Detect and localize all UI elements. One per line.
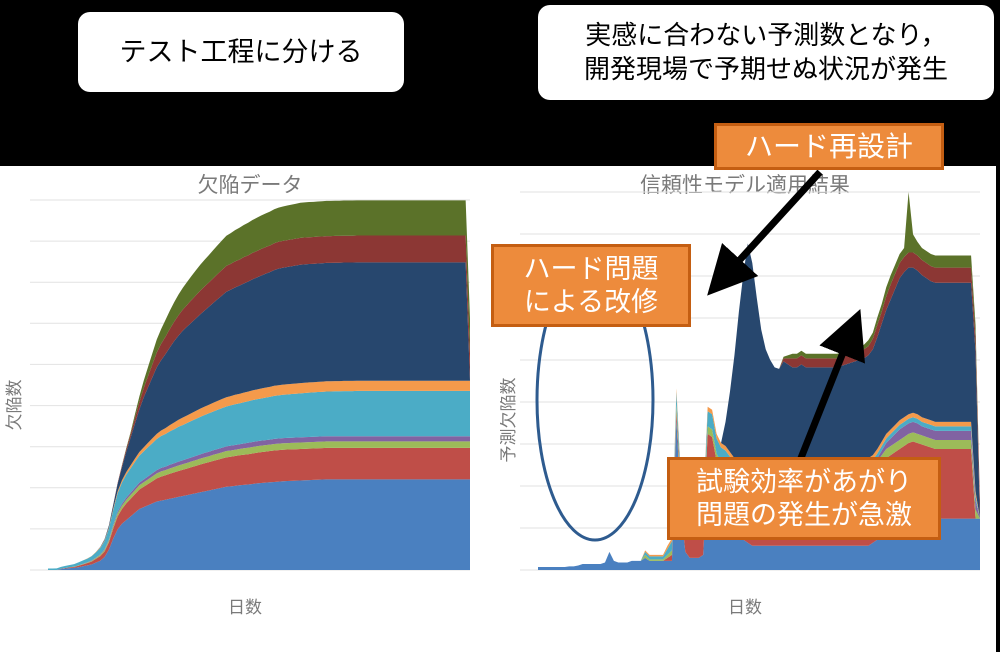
chart-reliability-model-result: 信頼性モデル適用結果 予測欠陥数 日数 <box>500 170 996 630</box>
y-axis-label-left: 欠陥数 <box>5 380 24 431</box>
x-axis-label-left: 日数 <box>228 598 262 617</box>
callout-line-1: ハード問題 <box>524 254 659 284</box>
defect-data-svg: 欠陥データ 欠陥数 日数 <box>0 170 500 630</box>
callout-line-1: 実感に合わない予測数となり， <box>585 20 946 50</box>
callout-text: ハード再設計 <box>745 130 913 164</box>
callout-text: 実感に合わない予測数となり， 開発現場で予期せぬ状況が発生 <box>584 19 948 86</box>
callout-line-2: による改修 <box>524 287 658 317</box>
callout-line-1: 試験効率があがり <box>696 467 912 497</box>
callout-unrealistic-prediction[interactable]: 実感に合わない予測数となり， 開発現場で予期せぬ状況が発生 <box>538 5 994 100</box>
x-axis-label-right: 日数 <box>728 598 762 617</box>
chart-title-right: 信頼性モデル適用結果 <box>640 174 850 197</box>
y-axis-label-right: 予測欠陥数 <box>500 378 518 463</box>
callout-text: テスト工程に分ける <box>120 35 363 70</box>
callout-hardware-redesign[interactable]: ハード再設計 <box>714 123 944 170</box>
callout-line-2: 問題の発生が急激 <box>696 500 912 530</box>
callout-hardware-problem[interactable]: ハード問題 による改修 <box>491 244 691 327</box>
reliability-model-svg: 信頼性モデル適用結果 予測欠陥数 日数 <box>500 170 996 630</box>
callout-test-efficiency[interactable]: 試験効率があがり 問題の発生が急激 <box>667 457 941 540</box>
chart-title-left: 欠陥データ <box>198 174 303 197</box>
panel-right-edge <box>996 166 1000 652</box>
chart-defect-data: 欠陥データ 欠陥数 日数 <box>0 170 500 630</box>
callout-split-into-test-phases[interactable]: テスト工程に分ける <box>78 12 404 92</box>
callout-line-2: 開発現場で予期せぬ状況が発生 <box>584 54 948 84</box>
callout-text: ハード問題 による改修 <box>524 253 659 318</box>
stacked-areas-left <box>48 200 470 570</box>
callout-text: 試験効率があがり 問題の発生が急激 <box>696 466 912 531</box>
